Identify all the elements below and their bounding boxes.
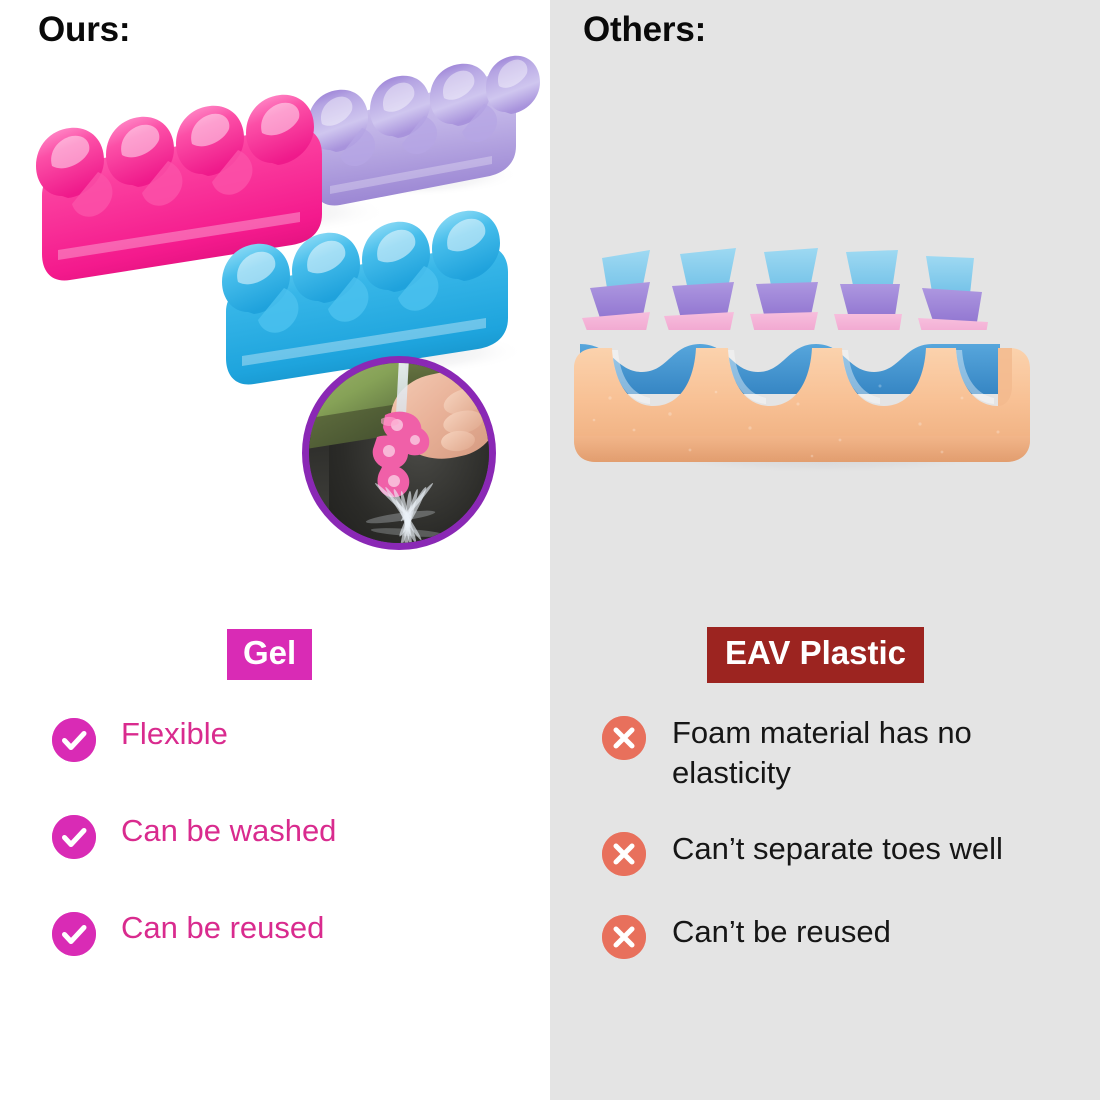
foam-separators-illustration <box>550 0 1100 600</box>
list-item: Can be reused <box>52 909 492 956</box>
feature-label: Can be reused <box>121 909 324 947</box>
list-item: Flexible <box>52 715 492 762</box>
others-heading: Others: <box>583 10 706 50</box>
feature-label: Flexible <box>121 715 228 753</box>
feature-label: Can be washed <box>121 812 336 850</box>
feature-label: Foam material has no elasticity <box>672 713 1062 793</box>
cross-circle-icon <box>602 832 646 876</box>
ours-heading: Ours: <box>38 10 130 50</box>
check-circle-icon <box>52 912 96 956</box>
comparison-infographic: Ours: Others: Gel EAV Plastic Flexible C… <box>0 0 1100 1100</box>
list-item: Can be washed <box>52 812 492 859</box>
cons-list: Foam material has no elasticity Can’t se… <box>602 713 1072 995</box>
list-item: Can’t be reused <box>602 912 1072 959</box>
list-item: Can’t separate toes well <box>602 829 1072 876</box>
eav-plastic-badge: EAV Plastic <box>707 627 924 683</box>
cross-circle-icon <box>602 915 646 959</box>
feature-label: Can’t be reused <box>672 912 891 952</box>
washing-under-tap-inset <box>302 356 496 550</box>
list-item: Foam material has no elasticity <box>602 713 1072 793</box>
cross-circle-icon <box>602 716 646 760</box>
check-circle-icon <box>52 815 96 859</box>
check-circle-icon <box>52 718 96 762</box>
feature-label: Can’t separate toes well <box>672 829 1003 869</box>
pros-list: Flexible Can be washed Can be reused <box>52 715 492 1006</box>
gel-badge: Gel <box>227 629 312 680</box>
